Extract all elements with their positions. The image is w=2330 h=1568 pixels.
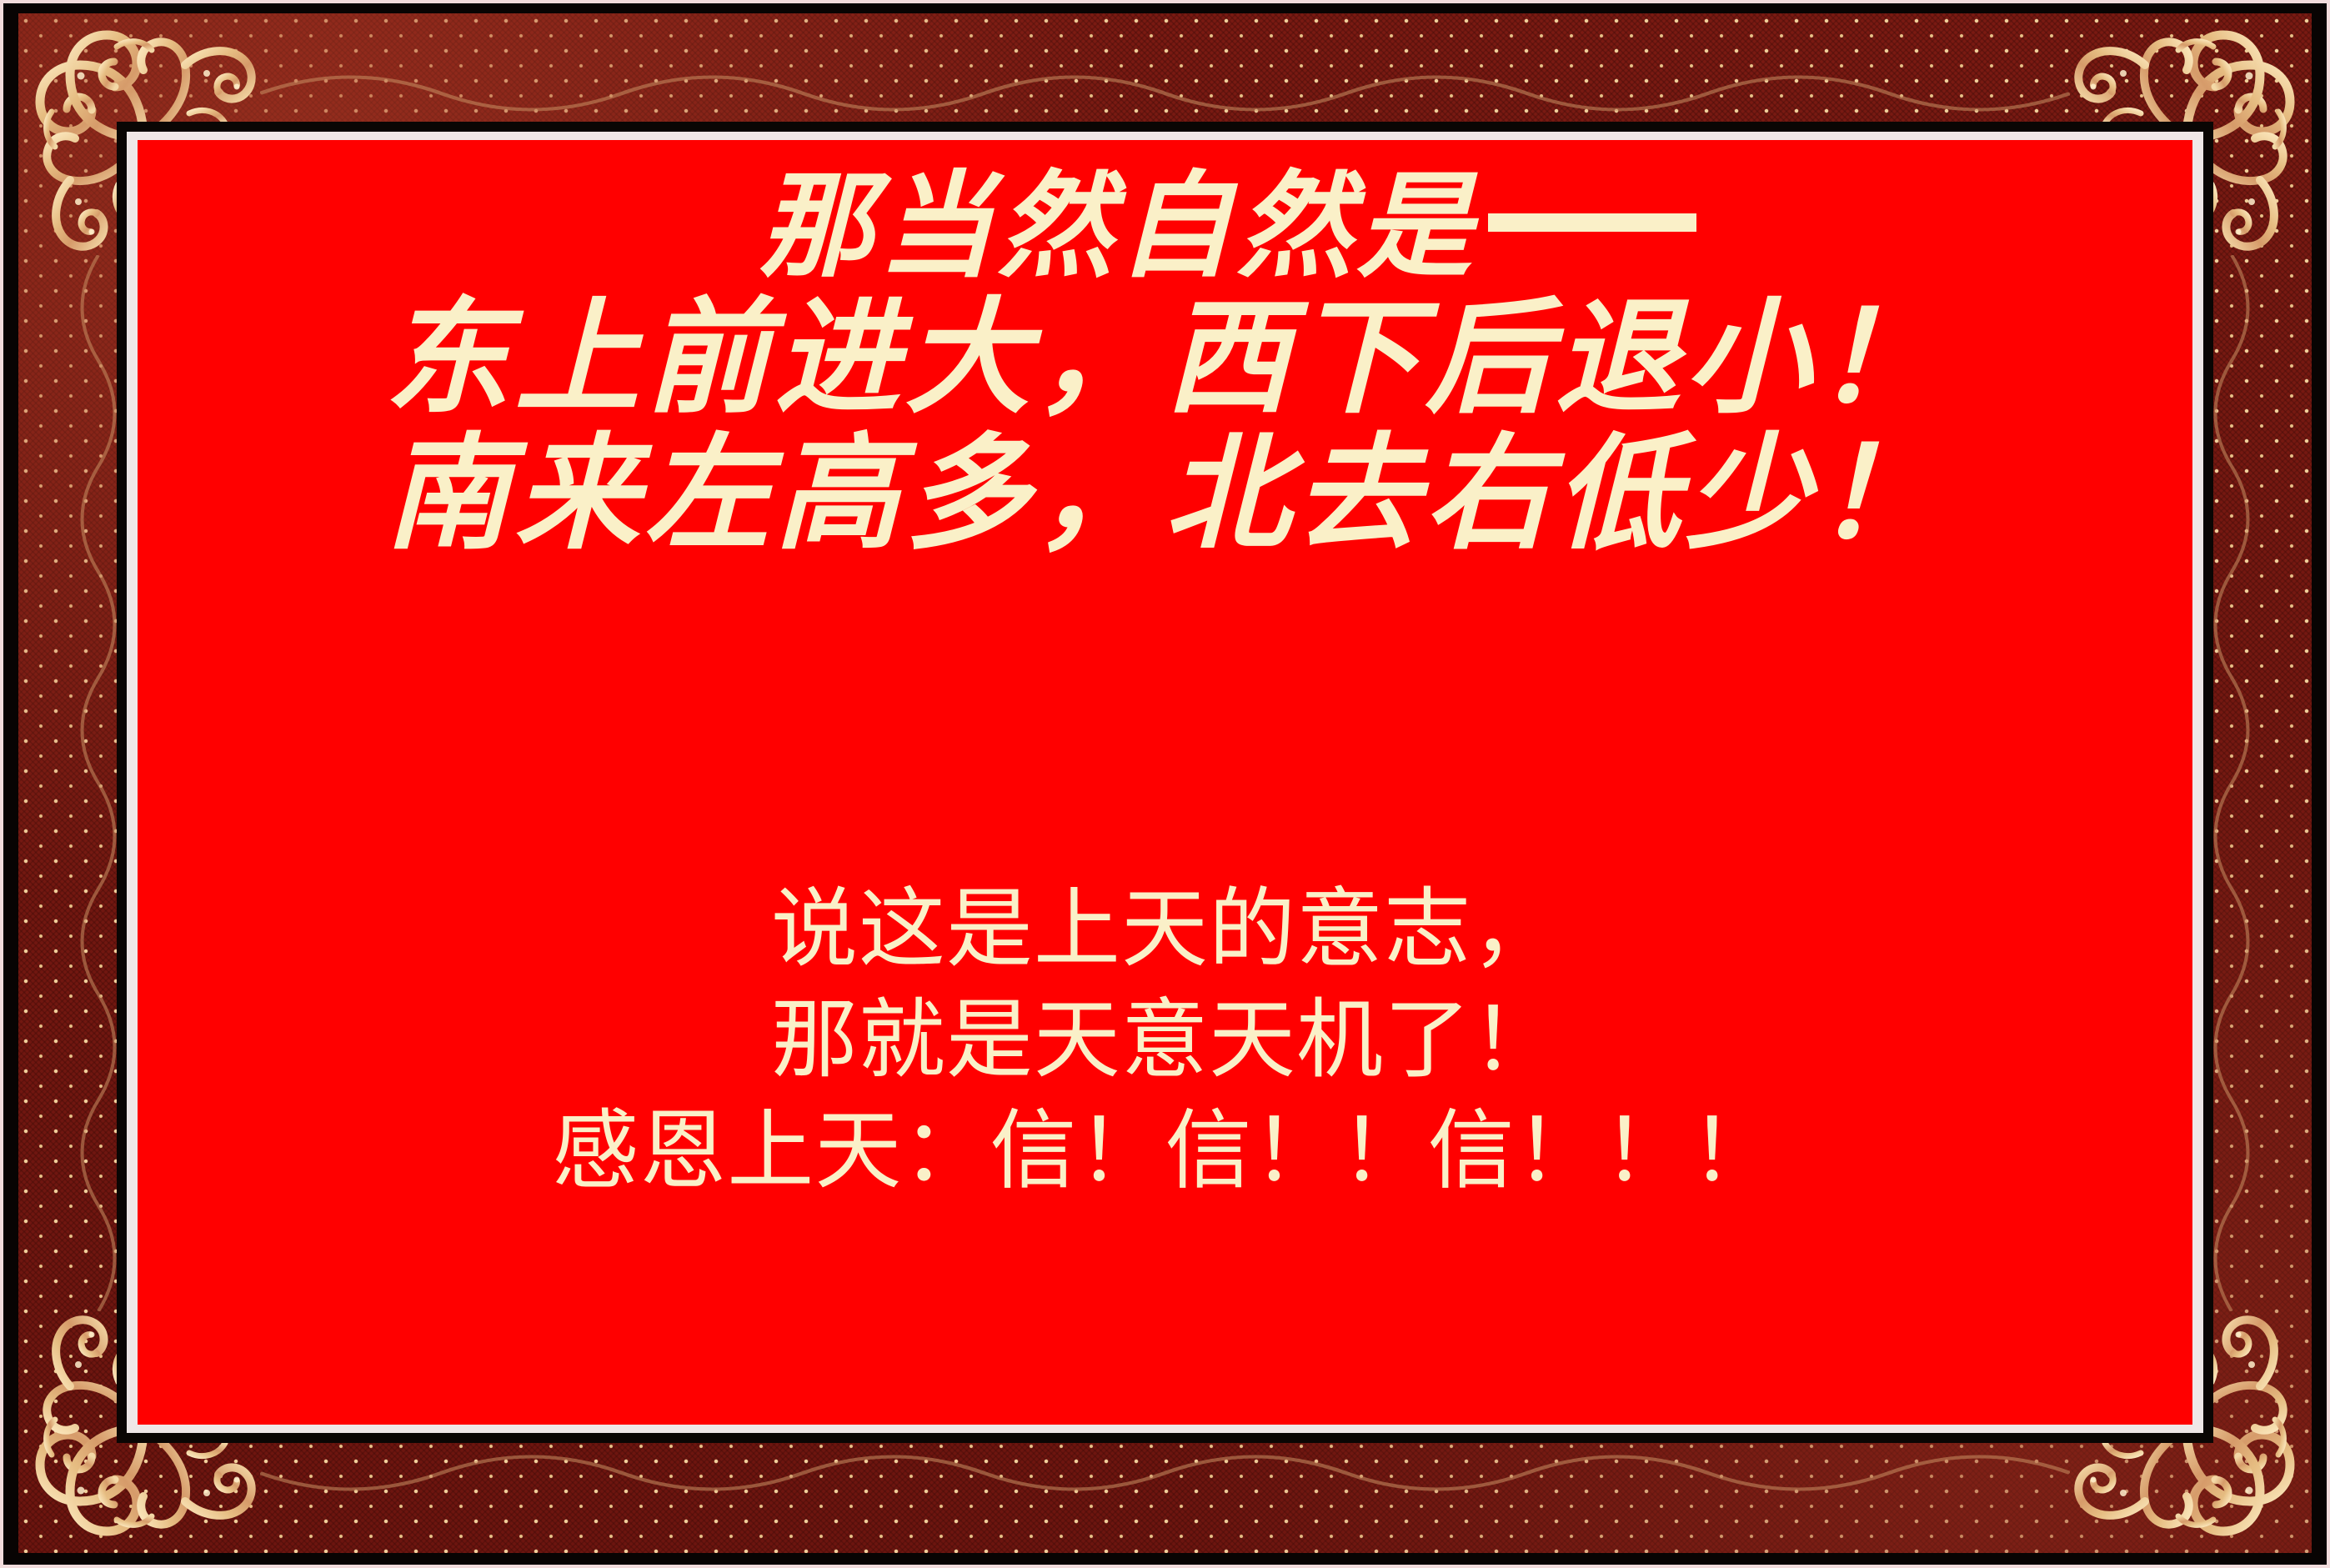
prose-line-3: 感恩上天：信！信！！信！！！ (138, 1095, 2192, 1206)
calligraphy-line-1: 那当然自然是 (138, 165, 2192, 287)
filigree-edge-bottom-icon (260, 1453, 2070, 1553)
prose-block: 说这是上天的意志， 那就是天意天机了！ 感恩上天：信！信！！信！！！ (138, 874, 2192, 1206)
calligraphy-headline-block: 那当然自然是 东上前进大，西下后退小！ 南来左高多，北去右低少！ (138, 165, 2192, 560)
em-dash-rule-icon (1488, 213, 1696, 232)
prose-line-2: 那就是天意天机了！ (138, 984, 2192, 1095)
filigree-edge-top-icon (260, 13, 2070, 113)
filigree-edge-right-icon (2212, 255, 2312, 1311)
calligraphy-line-2: 东上前进大，西下后退小！ (138, 292, 2192, 424)
calligraphy-line-3: 南来左高多，北去右低少！ (138, 428, 2192, 560)
poster-root: 那当然自然是 东上前进大，西下后退小！ 南来左高多，北去右低少！ 说这是上天的意… (0, 0, 2330, 1568)
prose-line-1: 说这是上天的意志， (138, 874, 2192, 984)
red-content-field: 那当然自然是 东上前进大，西下后退小！ 南来左高多，北去右低少！ 说这是上天的意… (138, 140, 2192, 1425)
calligraphy-line-1-text: 那当然自然是 (759, 158, 1476, 293)
filigree-edge-left-icon (18, 255, 118, 1311)
